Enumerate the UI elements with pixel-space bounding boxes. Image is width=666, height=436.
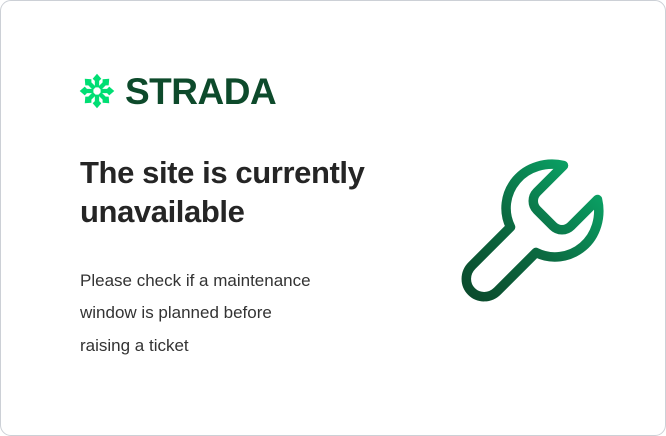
description-line: Please check if a maintenance bbox=[80, 265, 380, 298]
page-description: Please check if a maintenance window is … bbox=[80, 232, 380, 363]
description-line: raising a ticket bbox=[80, 330, 380, 363]
brand-wordmark: STRADA bbox=[125, 73, 276, 110]
message-block: The site is currently unavailable Please… bbox=[80, 153, 425, 363]
wrench-icon bbox=[456, 153, 612, 309]
strada-asterisk-icon bbox=[79, 73, 115, 109]
description-line: window is planned before bbox=[80, 297, 380, 330]
brand-logo: STRADA bbox=[79, 69, 276, 113]
page-title: The site is currently unavailable bbox=[80, 153, 400, 232]
maintenance-page: STRADA The site is currently unavailable… bbox=[0, 0, 666, 436]
